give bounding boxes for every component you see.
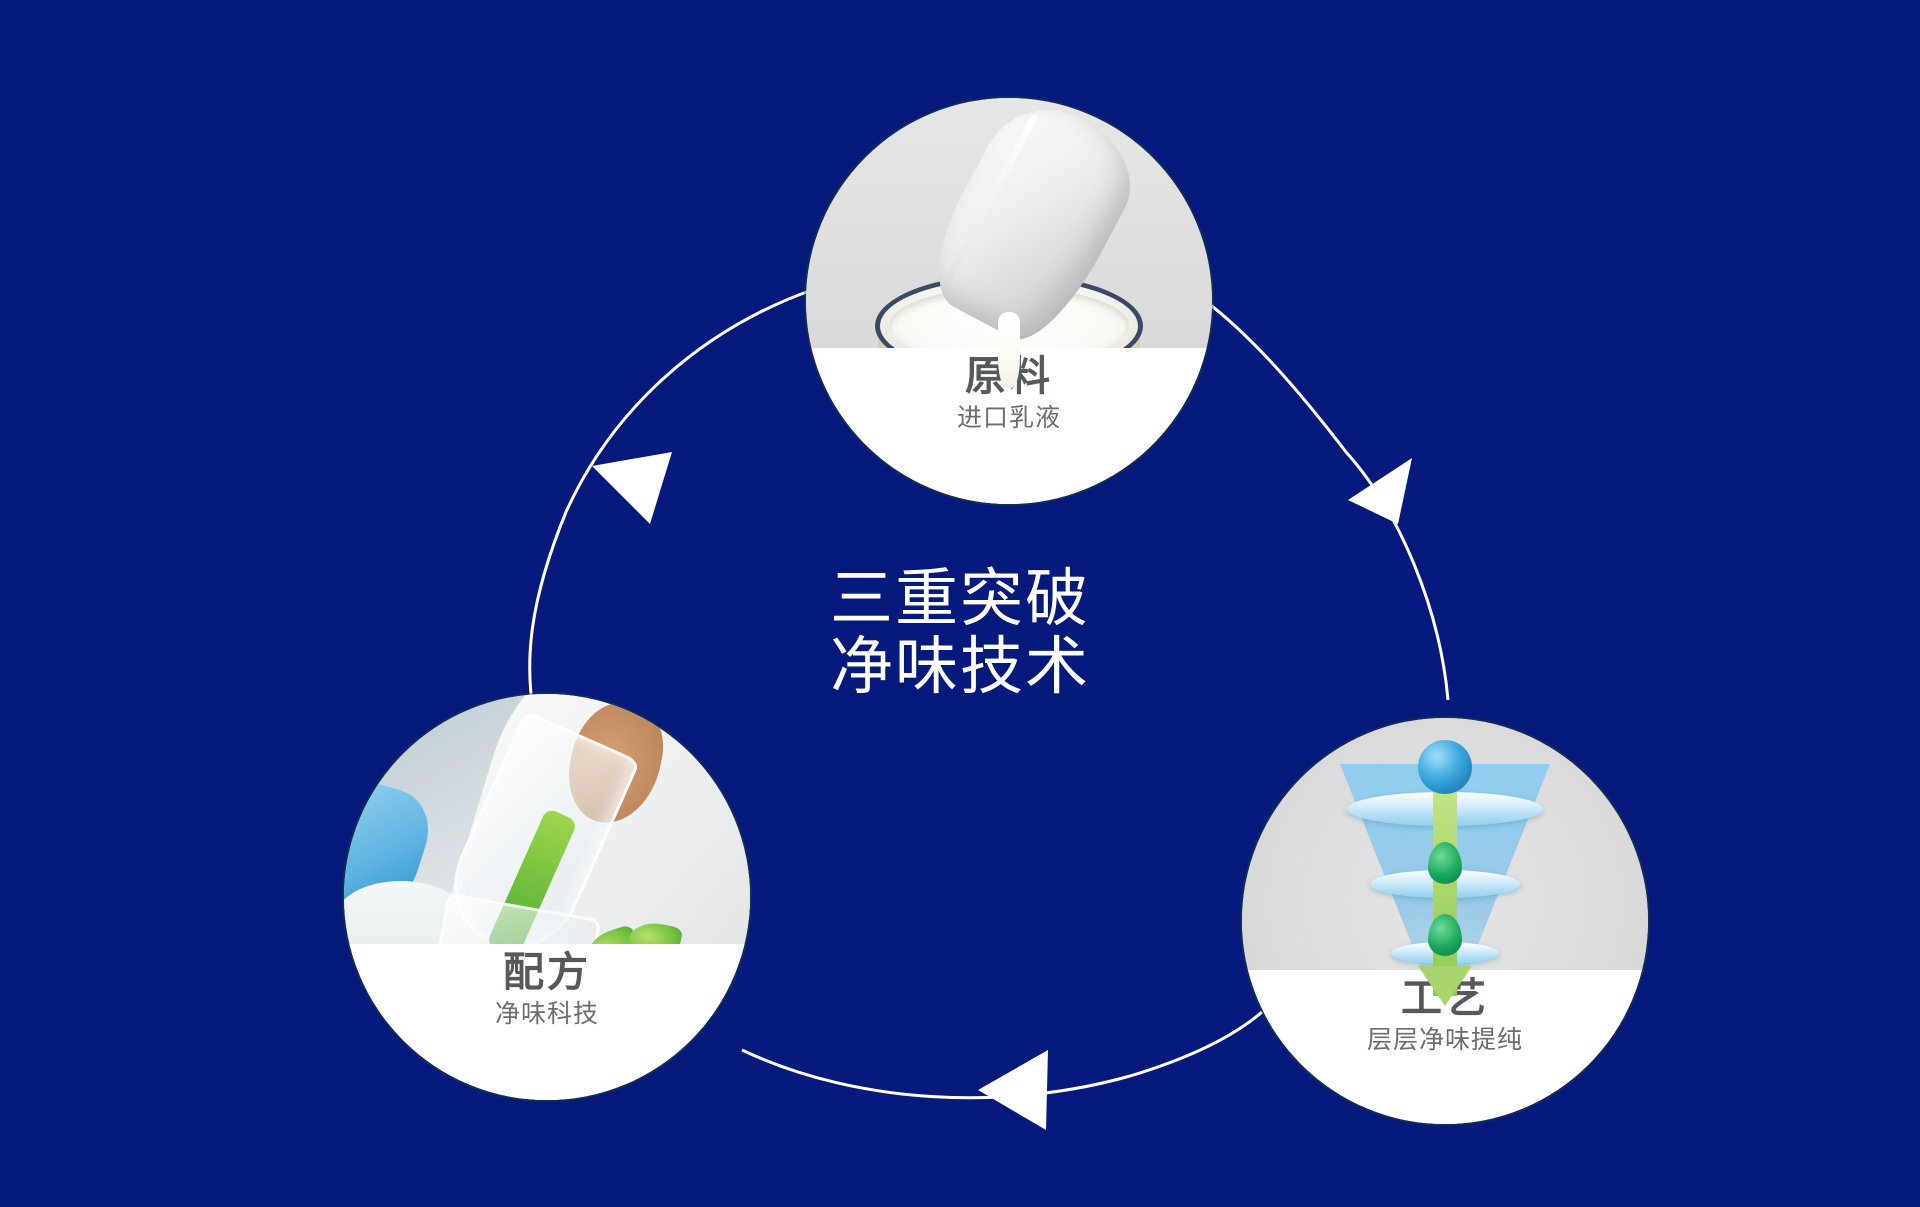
headline-line-2: 净味技术 (830, 633, 1090, 701)
arc-top-to-left (566, 290, 812, 512)
node-subtitle: 层层净味提纯 (1242, 1024, 1648, 1057)
node-raw-material[interactable]: 原料 进口乳液 (806, 98, 1212, 504)
blue-droplet-icon (1418, 740, 1472, 794)
infographic-canvas: 三重突破 净味技术 原料 进口乳液 (0, 0, 1920, 1207)
arc-top-right (1204, 300, 1346, 452)
emulsion-pour-stream (998, 312, 1020, 388)
arrow-right-icon (1348, 458, 1412, 524)
caption-formula: 配方 净味科技 (344, 944, 750, 1100)
node-subtitle: 净味科技 (344, 998, 750, 1031)
node-formula[interactable]: 配方 净味科技 (344, 694, 750, 1100)
arc-left-down (530, 512, 566, 716)
node-subtitle: 进口乳液 (806, 402, 1212, 435)
node-process[interactable]: 工艺 层层净味提纯 (1242, 718, 1648, 1124)
green-stream (1433, 782, 1457, 996)
arrow-bottom-icon (978, 1050, 1048, 1130)
arc-right-up (1346, 452, 1448, 700)
arc-left-to-right (742, 1050, 1130, 1098)
center-headline: 三重突破 净味技术 (830, 565, 1090, 701)
headline-line-1: 三重突破 (830, 565, 1090, 633)
node-title: 配方 (344, 950, 750, 996)
arrow-left-icon (592, 452, 672, 524)
downward-arrow-icon (1418, 966, 1472, 1006)
